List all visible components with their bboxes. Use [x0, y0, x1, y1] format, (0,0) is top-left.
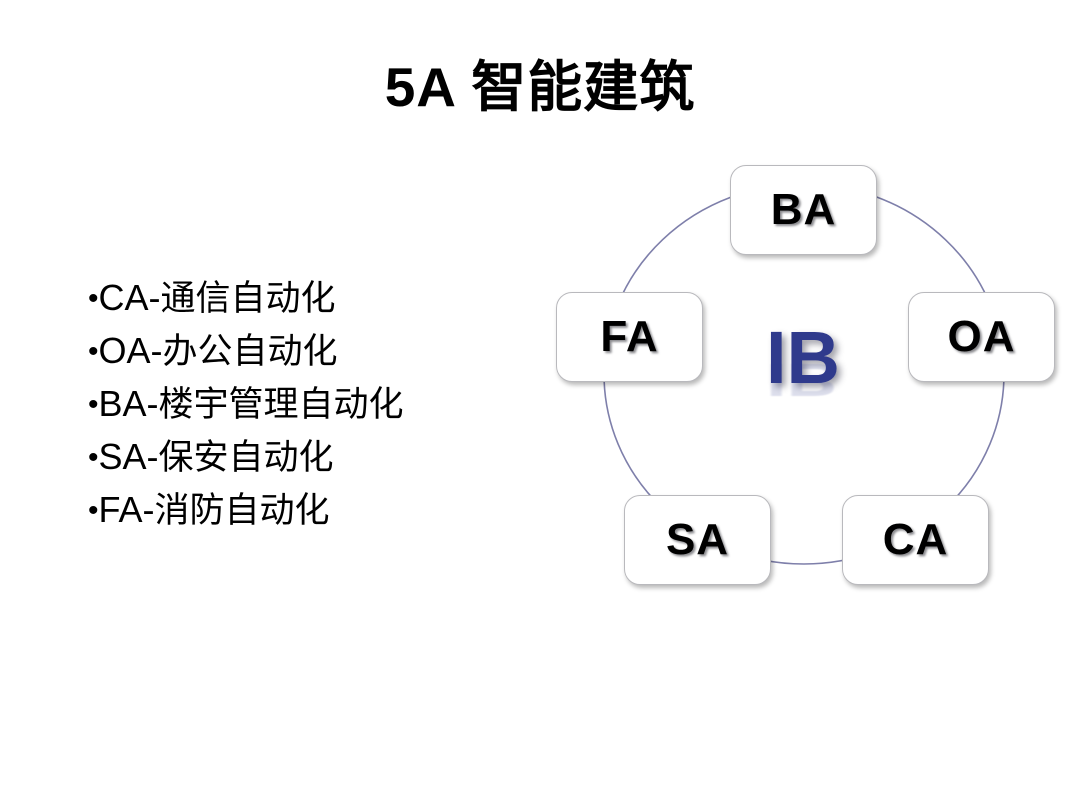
bullet-marker: • [88, 335, 99, 368]
list-item: •CA-通信自动化 [88, 272, 518, 325]
slide-canvas: 5A 智能建筑 •CA-通信自动化 •OA-办公自动化 •BA-楼宇管理自动化 … [0, 0, 1080, 810]
node-sa[interactable]: SA [624, 495, 771, 585]
node-fa[interactable]: FA [556, 292, 703, 382]
list-item: •FA-消防自动化 [88, 484, 518, 537]
bullet-list: •CA-通信自动化 •OA-办公自动化 •BA-楼宇管理自动化 •SA-保安自动… [88, 272, 518, 537]
bullet-text: 保安自动化 [159, 438, 334, 478]
node-label: SA [666, 515, 729, 565]
center-label-reflection: IB [718, 361, 888, 398]
bullet-code: BA- [99, 383, 159, 424]
node-oa[interactable]: OA [908, 292, 1055, 382]
bullet-marker: • [88, 282, 99, 315]
node-ca[interactable]: CA [842, 495, 989, 585]
node-label: CA [883, 515, 949, 565]
node-label: BA [771, 185, 837, 235]
bullet-code: SA- [99, 436, 159, 477]
list-item: •OA-办公自动化 [88, 325, 518, 378]
bullet-text: 办公自动化 [163, 332, 338, 372]
page-title: 5A 智能建筑 [0, 42, 1080, 122]
bullet-code: CA- [99, 277, 161, 318]
node-ba[interactable]: BA [730, 165, 877, 255]
cycle-diagram: IB IB BA OA CA SA FA [540, 140, 1080, 620]
bullet-text: 消防自动化 [155, 491, 330, 531]
center-label-ib: IB IB [718, 320, 888, 440]
list-item: •BA-楼宇管理自动化 [88, 378, 518, 431]
bullet-text: 通信自动化 [161, 279, 336, 319]
list-item: •SA-保安自动化 [88, 431, 518, 484]
bullet-text: 楼宇管理自动化 [159, 385, 404, 425]
node-label: FA [600, 312, 658, 362]
bullet-code: OA- [99, 330, 163, 371]
bullet-marker: • [88, 441, 99, 474]
node-label: OA [948, 312, 1016, 362]
bullet-marker: • [88, 388, 99, 421]
bullet-marker: • [88, 494, 99, 527]
bullet-code: FA- [99, 489, 155, 530]
